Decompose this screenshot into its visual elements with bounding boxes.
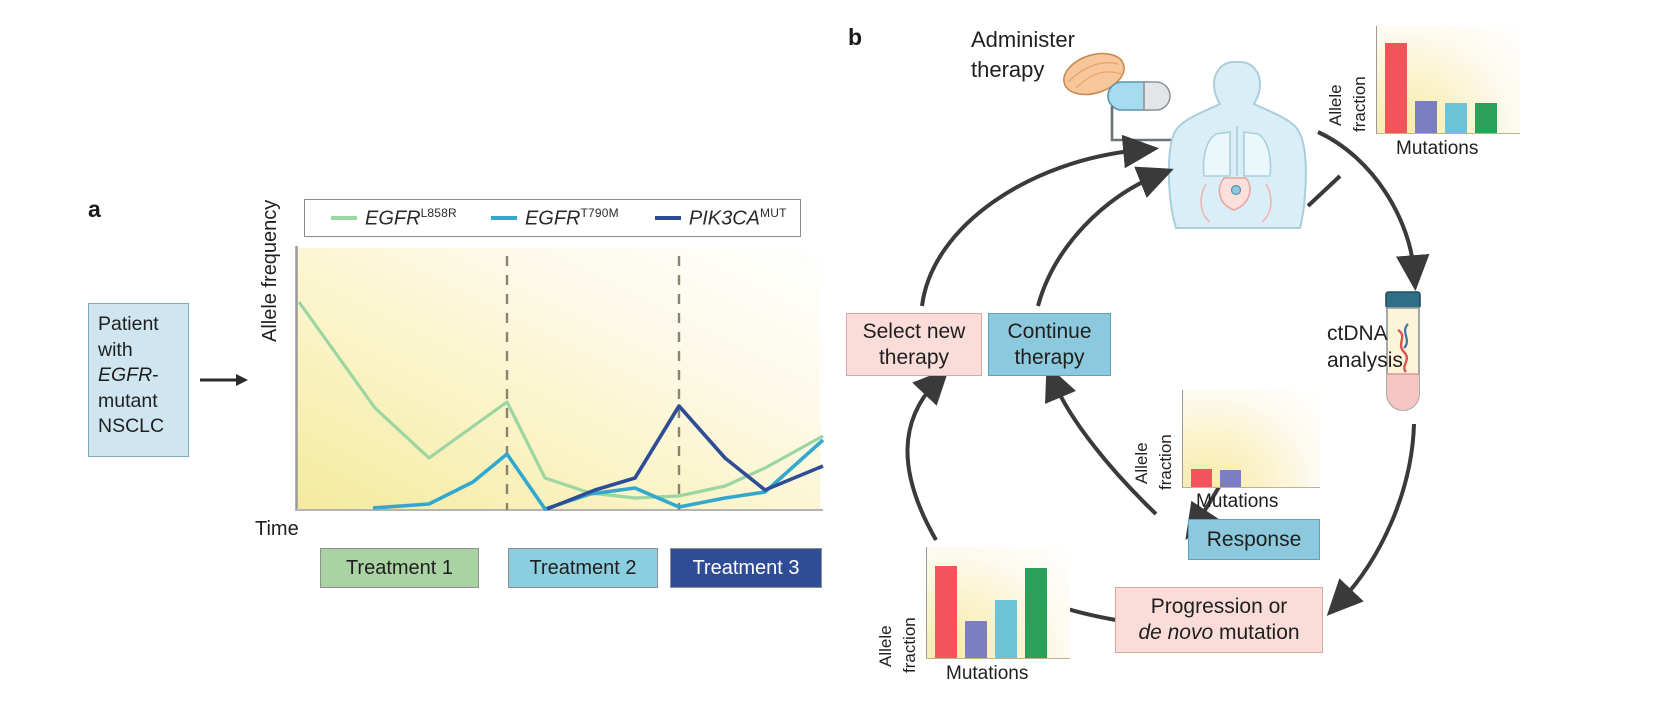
mini-chart-y-label-2: fraction (1350, 76, 1369, 132)
mini-chart-bars (1377, 26, 1497, 133)
bar-mut3 (1445, 103, 1467, 133)
patient-line-4: mutant (98, 389, 182, 415)
bar-mut1 (1385, 43, 1407, 133)
mini-chart-bars (927, 547, 1047, 658)
mini-bar-chart-progression: Allele fraction Mutations (874, 545, 1124, 695)
panel-a: a Patient with EGFR- mutant NSCLC EGFRL8… (0, 0, 840, 728)
legend-swatch-2 (655, 216, 681, 219)
legend-label-1: EGFRT790M (525, 206, 619, 231)
mini-chart-y-label-2: fraction (900, 617, 919, 673)
bar-mut1 (1191, 469, 1212, 487)
bar-mut3 (995, 600, 1017, 658)
arrow-right-icon (200, 372, 248, 388)
legend-swatch-1 (491, 216, 517, 219)
box-response[interactable]: Response (1188, 519, 1320, 560)
legend-item-0: EGFRL858R (331, 206, 457, 231)
mini-chart-bars (1183, 390, 1241, 487)
line-patient-to-top-chart (1308, 176, 1340, 206)
bar-mut2 (1220, 470, 1241, 487)
allele-frequency-chart: Allele frequency (263, 246, 823, 521)
mini-bar-chart-after-therapy: Allele fraction Mutations (1324, 22, 1574, 167)
patient-line-5: NSCLC (98, 414, 182, 440)
bar-mut2 (965, 621, 987, 658)
bar-mut1 (935, 566, 957, 658)
mini-chart-plot (926, 547, 1070, 659)
mini-chart-y-label: Allele (1132, 442, 1151, 484)
box-continue-therapy[interactable]: Continuetherapy (988, 313, 1111, 376)
patient-line-3: EGFR- (98, 363, 182, 389)
chart-legend: EGFRL858R EGFRT790M PIK3CAMUT (304, 199, 801, 237)
treatment-box-1: Treatment 1 (320, 548, 479, 588)
panel-b: b Administer therapy (840, 0, 1659, 728)
mini-chart-x-label: Mutations (946, 663, 1028, 685)
bar-mut4 (1475, 103, 1497, 133)
mini-chart-y-label: Allele (1326, 84, 1345, 126)
mini-bar-chart-response: Allele fraction Mutations (1130, 388, 1370, 508)
treatment-box-2: Treatment 2 (508, 548, 658, 588)
treatment-box-3: Treatment 3 (670, 548, 822, 588)
panel-a-letter: a (88, 196, 101, 223)
mini-chart-x-label: Mutations (1196, 491, 1278, 513)
legend-label-2: PIK3CAMUT (689, 206, 787, 231)
x-axis-label: Time (255, 518, 299, 541)
bar-mut2 (1415, 101, 1437, 133)
box-progression-or-de-novo-mutation[interactable]: Progression orde novo mutation (1115, 587, 1323, 653)
legend-item-1: EGFRT790M (491, 206, 619, 231)
legend-item-2: PIK3CAMUT (655, 206, 787, 231)
legend-swatch-0 (331, 216, 357, 219)
legend-label-0: EGFRL858R (365, 206, 457, 231)
y-axis-label: Allele frequency (259, 200, 282, 342)
arrow-chart-to-select-new (907, 382, 936, 540)
mini-chart-y-label-2: fraction (1156, 434, 1175, 490)
plot-canvas (295, 246, 823, 512)
arrow-continue-to-patient (1038, 176, 1156, 306)
patient-line-1: Patient (98, 312, 182, 338)
box-select-new-therapy[interactable]: Select newtherapy (846, 313, 982, 376)
bar-mut4 (1025, 568, 1047, 658)
mini-chart-x-label: Mutations (1396, 138, 1478, 160)
arrow-select-new-to-patient (922, 150, 1140, 306)
patient-line-2: with (98, 338, 182, 364)
patient-description-box: Patient with EGFR- mutant NSCLC (88, 303, 189, 457)
gene-name-egfr: EGFR (98, 364, 152, 386)
mini-chart-y-label: Allele (876, 625, 895, 667)
mini-chart-plot (1182, 390, 1320, 488)
mini-chart-plot (1376, 26, 1520, 134)
